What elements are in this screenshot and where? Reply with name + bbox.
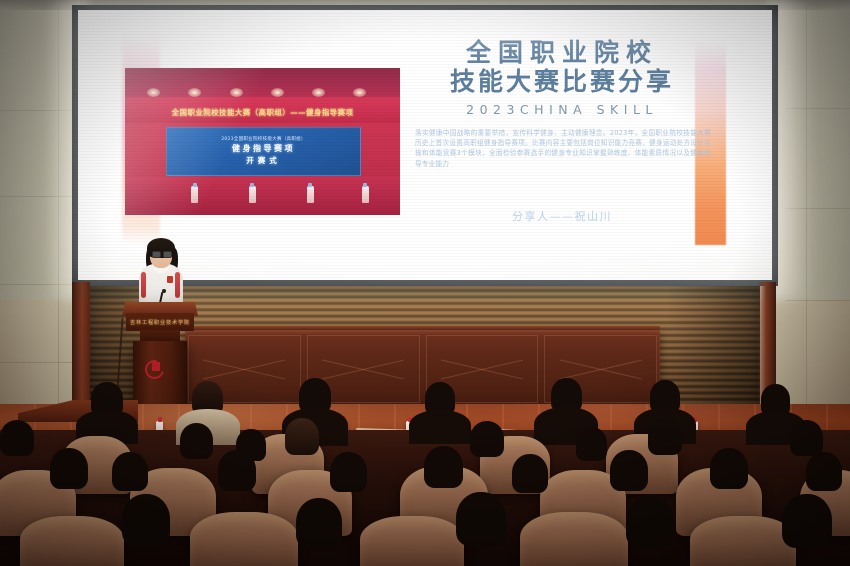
audience-head — [470, 421, 504, 457]
audience-head — [626, 496, 674, 548]
audience-head — [576, 427, 607, 461]
audience-head — [424, 446, 463, 488]
audience-head — [296, 498, 342, 548]
speaker-jacket-stripe — [175, 272, 180, 298]
photo-gloss — [125, 68, 400, 215]
podium-nameplate: 吉林工程职业技术学院 — [126, 313, 194, 331]
slide-embedded-photo: 全国职业院校技能大赛（高职组）——健身指导赛项 2023全国职业院校技能大赛（高… — [125, 68, 400, 215]
slide-title-line2: 技能大赛比赛分享 — [412, 67, 712, 96]
stage-side-column-left — [72, 282, 90, 417]
eyeglasses-icon — [152, 251, 170, 256]
theater-seat — [520, 512, 628, 566]
speaker-badge — [167, 276, 173, 283]
audience-head — [648, 418, 682, 455]
theater-seat — [360, 516, 464, 566]
audience-head — [790, 420, 823, 456]
audience-head — [50, 448, 88, 489]
audience-head — [806, 452, 842, 491]
audience-shoulders — [409, 410, 471, 444]
podium-institution-text: 吉林工程职业技术学院 — [130, 319, 190, 326]
slide-title-line1: 全国职业院校 — [412, 38, 712, 67]
audience-head — [456, 492, 506, 546]
audience-head — [180, 423, 213, 459]
auditorium-photo: 全国职业院校技能大赛（高职组）——健身指导赛项 2023全国职业院校技能大赛（高… — [0, 0, 850, 566]
stage-wainscot-panels — [185, 330, 660, 408]
speaker-jacket-stripe — [141, 272, 146, 298]
audience-head — [0, 420, 34, 456]
audience-head — [610, 450, 648, 491]
podium-emblem-bar — [152, 362, 160, 371]
theater-seat — [690, 516, 796, 566]
slide-title: 全国职业院校 技能大赛比赛分享 — [412, 38, 712, 96]
theater-seat — [190, 512, 298, 566]
audience-head — [330, 452, 367, 492]
audience-head — [285, 418, 319, 455]
slide-subtitle: 2023CHINA SKILL — [412, 102, 712, 117]
slide-body-paragraph: 落实健康中国战略的重要举措，宣传科学健身、主动健康理念。2023年，全国职业院校… — [415, 128, 711, 169]
audience-head — [122, 494, 170, 546]
audience-head — [512, 454, 548, 493]
theater-seat — [20, 516, 124, 566]
audience-head — [112, 452, 148, 491]
wall-seam — [786, 300, 850, 301]
audience-head — [782, 494, 832, 548]
wall-seam — [0, 362, 80, 363]
projection-screen: 全国职业院校技能大赛（高职组）——健身指导赛项 2023全国职业院校技能大赛（高… — [78, 10, 772, 280]
audience-head — [218, 450, 256, 491]
microphone-icon — [162, 289, 166, 293]
slide-author-credit: 分享人——祝山川 — [412, 208, 712, 224]
audience-head — [710, 448, 748, 489]
